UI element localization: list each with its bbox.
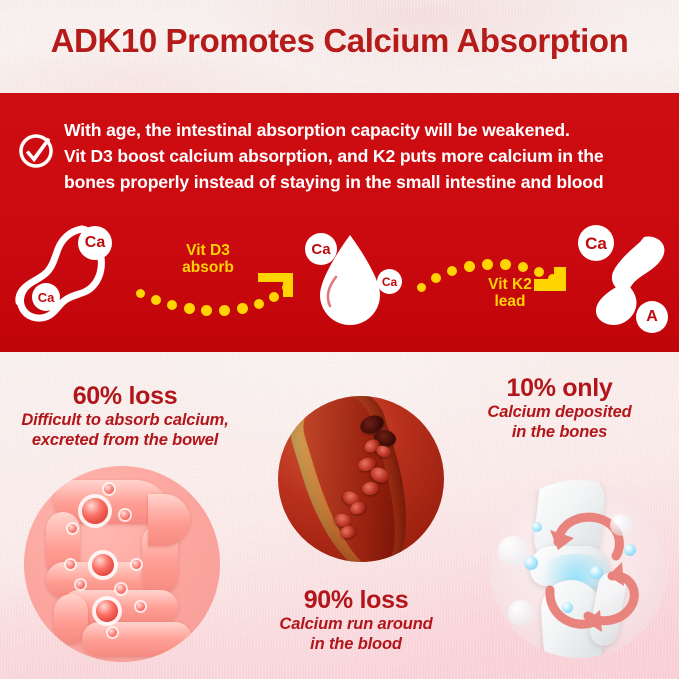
vit-k2-label: Vit K2 lead [455, 277, 565, 310]
stat-pct-blood: 90% loss [228, 586, 484, 614]
knee-joint-illustration [490, 480, 668, 658]
stat-sub-intestine-2: excreted from the bowel [0, 430, 250, 450]
vit-d3-label: Vit D3 absorb [148, 243, 268, 276]
stat-caption-intestine: 60% loss Difficult to absorb calcium, ex… [0, 382, 250, 450]
blood-vessel-illustration [278, 396, 444, 562]
stomach-badge-ca-2: Ca [32, 283, 60, 311]
stat-sub-blood-2: in the blood [228, 634, 484, 654]
banner-line-3: bones properly instead of staying in the… [64, 170, 670, 196]
banner-line-2: Vit D3 boost calcium absorption, and K2 … [64, 144, 670, 170]
stat-caption-bones: 10% only Calcium deposited in the bones [440, 374, 679, 442]
bone-badge-ca: Ca [578, 225, 614, 261]
stat-caption-blood: 90% loss Calcium run around in the blood [228, 586, 484, 654]
stat-sub-intestine-1: Difficult to absorb calcium, [0, 410, 250, 430]
infographic-page: ADK10 Promotes Calcium Absorption With a… [0, 0, 679, 679]
absorption-diagram: Ca Ca Vit D3 absorb Ca Ca [0, 215, 679, 345]
banner-text: With age, the intestinal absorption capa… [64, 118, 670, 196]
stat-sub-bones-2: in the bones [440, 422, 679, 442]
stat-pct-bones: 10% only [440, 374, 679, 402]
droplet-badge-ca-1: Ca [305, 233, 337, 265]
droplet-badge-ca-2: Ca [377, 269, 402, 294]
page-title: ADK10 Promotes Calcium Absorption [0, 22, 679, 60]
bone-badge-a: A [636, 301, 668, 333]
stat-pct-intestine: 60% loss [0, 382, 250, 410]
stat-sub-blood-1: Calcium run around [228, 614, 484, 634]
stomach-badge-ca-1: Ca [78, 226, 112, 260]
banner-line-1: With age, the intestinal absorption capa… [64, 118, 670, 144]
check-circle-icon [16, 131, 56, 171]
intestine-illustration [24, 466, 220, 662]
stat-sub-bones-1: Calcium deposited [440, 402, 679, 422]
